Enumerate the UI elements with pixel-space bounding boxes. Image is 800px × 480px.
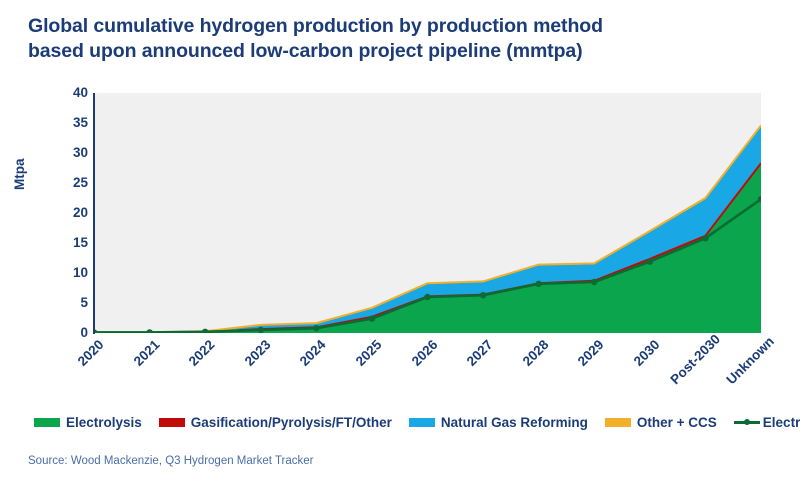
- legend-swatch-icon: [159, 418, 185, 427]
- data-point-marker: [202, 329, 208, 333]
- y-axis-ticks: 0510152025303540: [56, 93, 88, 333]
- chart-legend: ElectrolysisGasification/Pyrolysis/FT/Ot…: [34, 412, 774, 432]
- legend-item[interactable]: Other + CCS: [605, 415, 717, 430]
- y-axis-tick-label: 10: [56, 266, 88, 279]
- legend-item-label: Natural Gas Reforming: [441, 415, 588, 430]
- chart-plot-wrapper: 0510152025303540 Mtpa 202020212022202320…: [0, 0, 800, 480]
- x-axis-tick-label: Post-2030: [668, 337, 718, 387]
- legend-item[interactable]: Electrolysis: [34, 415, 142, 430]
- legend-item-label: Gasification/Pyrolysis/FT/Other: [191, 415, 392, 430]
- data-point-marker: [424, 294, 430, 300]
- y-axis-tick-label: 25: [56, 176, 88, 189]
- legend-item[interactable]: Gasification/Pyrolysis/FT/Other: [159, 415, 392, 430]
- y-axis-label: Mtpa: [12, 159, 27, 191]
- y-axis-tick-label: 20: [56, 206, 88, 219]
- x-axis-tick-label: 2024: [279, 337, 329, 387]
- y-axis-tick-label: 30: [56, 146, 88, 159]
- legend-item-label: Electrolysis: [66, 415, 142, 430]
- y-axis-tick-label: 5: [56, 296, 88, 309]
- y-axis-tick-label: 40: [56, 86, 88, 99]
- y-axis-tick-label: 0: [56, 326, 88, 339]
- x-axis-tick-label: 2023: [223, 337, 273, 387]
- data-point-marker: [480, 292, 486, 298]
- data-point-marker: [369, 315, 375, 321]
- x-axis-ticks: 2020202120222023202420252026202720282029…: [94, 337, 761, 407]
- y-axis-tick-label: 15: [56, 236, 88, 249]
- data-point-marker: [535, 281, 541, 287]
- chart-root: Global cumulative hydrogen production by…: [0, 0, 800, 480]
- legend-item[interactable]: Natural Gas Reforming: [409, 415, 588, 430]
- x-axis-tick-label: 2020: [56, 337, 106, 387]
- legend-swatch-icon: [605, 418, 631, 427]
- x-axis-tick-label: 2028: [501, 337, 551, 387]
- x-axis-tick-label: 2030: [612, 337, 662, 387]
- source-note: Source: Wood Mackenzie, Q3 Hydrogen Mark…: [28, 455, 314, 467]
- x-axis-tick-label: Unknown: [723, 337, 773, 387]
- y-axis-tick-label: 35: [56, 116, 88, 129]
- x-axis-tick-label: 2021: [112, 337, 162, 387]
- data-point-marker: [647, 258, 653, 264]
- data-point-marker: [313, 325, 319, 331]
- legend-item-label: Other + CCS: [637, 415, 717, 430]
- x-axis-tick-label: 2025: [334, 337, 384, 387]
- y-axis-line: [93, 93, 95, 334]
- x-axis-tick-label: 2026: [390, 337, 440, 387]
- data-point-marker: [591, 279, 597, 285]
- x-axis-tick-label: 2029: [557, 337, 607, 387]
- legend-item-label: Electrolysis (Q2): [763, 415, 800, 430]
- x-axis-tick-label: 2027: [445, 337, 495, 387]
- data-point-marker: [146, 329, 152, 333]
- legend-swatch-icon: [409, 418, 435, 427]
- data-point-marker: [258, 327, 264, 333]
- legend-line-marker-icon: [734, 418, 760, 427]
- x-axis-tick-label: 2022: [168, 337, 218, 387]
- data-point-marker: [702, 235, 708, 241]
- chart-svg: [94, 93, 761, 333]
- legend-swatch-icon: [34, 418, 60, 427]
- legend-item[interactable]: Electrolysis (Q2): [734, 415, 800, 430]
